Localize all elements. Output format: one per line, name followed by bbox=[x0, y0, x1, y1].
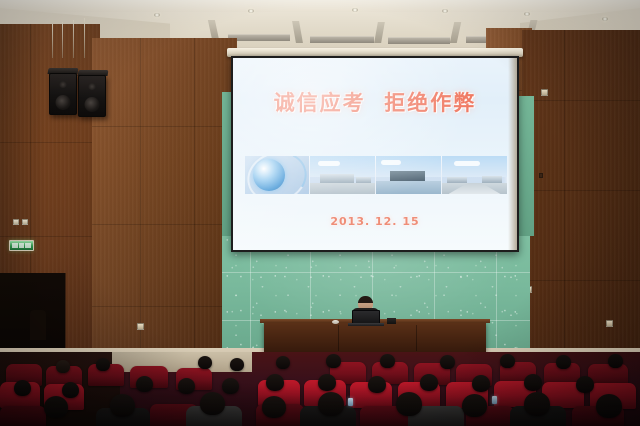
panel-seam bbox=[92, 306, 237, 307]
seated-student bbox=[136, 376, 153, 392]
speaker-cable bbox=[62, 22, 63, 58]
panel-seam bbox=[564, 30, 565, 356]
desk-cup bbox=[332, 320, 339, 324]
ceiling-downlight bbox=[248, 9, 254, 13]
seated-student bbox=[420, 374, 438, 391]
slide-image-strip bbox=[245, 156, 507, 194]
slide-title: 诚信应考 拒绝作弊 bbox=[233, 87, 517, 117]
podium-desk bbox=[264, 322, 486, 352]
auditorium-scene: 诚信应考 拒绝作弊 bbox=[0, 0, 640, 426]
seated-student bbox=[524, 392, 550, 416]
panel-seam bbox=[194, 38, 195, 356]
seated-student bbox=[318, 392, 344, 416]
ceiling-slat bbox=[292, 21, 303, 43]
seated-student bbox=[198, 356, 212, 369]
seated-student bbox=[326, 354, 341, 368]
seated-student bbox=[596, 394, 622, 418]
panel-seam bbox=[92, 126, 237, 127]
mobile-phone bbox=[492, 396, 497, 404]
seated-student bbox=[230, 358, 244, 371]
seated-student bbox=[500, 354, 515, 368]
wall-fitting bbox=[539, 173, 543, 178]
seated-student bbox=[178, 378, 195, 394]
desk-seam bbox=[416, 325, 417, 351]
panel-seam bbox=[0, 142, 100, 143]
seated-student bbox=[262, 396, 286, 418]
panel-seam bbox=[0, 236, 100, 237]
seated-student bbox=[200, 392, 225, 415]
photo-water bbox=[376, 181, 441, 194]
photo-cloud bbox=[318, 161, 340, 166]
panel-seam bbox=[92, 224, 237, 225]
globe-graphic bbox=[245, 156, 309, 194]
presenter-laptop bbox=[352, 310, 380, 324]
screen-edge-shadow bbox=[508, 58, 517, 250]
seated-student bbox=[222, 378, 239, 394]
wall-socket[interactable] bbox=[541, 89, 548, 96]
ceiling-vent bbox=[310, 36, 374, 43]
speaker-cable bbox=[52, 24, 53, 58]
seated-student bbox=[576, 376, 594, 393]
ceiling-downlight bbox=[154, 13, 160, 17]
auditorium-seat bbox=[0, 406, 46, 426]
seated-student bbox=[396, 392, 422, 416]
desk-item bbox=[387, 318, 396, 324]
wall-panel-left-inner bbox=[92, 38, 237, 356]
wood-grain-texture bbox=[92, 38, 237, 356]
exit-sign-glyphs bbox=[12, 243, 31, 248]
ceiling-vent bbox=[228, 34, 290, 41]
wall-panel-right bbox=[522, 30, 640, 356]
slide-date: 2013. 12. 15 bbox=[233, 215, 517, 228]
seated-student bbox=[276, 356, 290, 369]
wood-grain-texture bbox=[522, 30, 640, 356]
ceiling-front-band bbox=[0, 0, 640, 12]
wall-socket[interactable] bbox=[137, 323, 144, 330]
ceiling-downlight bbox=[524, 12, 530, 16]
wall-grid-line bbox=[222, 272, 530, 273]
wall-socket[interactable] bbox=[606, 320, 613, 327]
ceiling-vent bbox=[388, 37, 450, 44]
screen-frame: 诚信应考 拒绝作弊 bbox=[231, 56, 519, 252]
seated-student bbox=[524, 374, 542, 391]
ceiling-slat bbox=[374, 22, 385, 43]
ceiling-downlight bbox=[602, 17, 608, 21]
photo-cloud bbox=[381, 160, 401, 165]
campus-building-photo bbox=[309, 156, 375, 194]
seated-student bbox=[368, 376, 386, 393]
seated-student bbox=[608, 354, 623, 368]
ceiling-downlight bbox=[352, 8, 358, 12]
mobile-phone bbox=[348, 398, 353, 406]
photo-ground bbox=[310, 183, 375, 194]
desk-seam bbox=[338, 325, 339, 351]
seated-student bbox=[556, 355, 571, 369]
presentation-slide: 诚信应考 拒绝作弊 bbox=[233, 58, 517, 250]
seated-student bbox=[56, 360, 70, 373]
projection-screen: 诚信应考 拒绝作弊 bbox=[231, 48, 519, 253]
laptop-base bbox=[348, 323, 384, 326]
seated-student bbox=[318, 374, 336, 391]
audience-area bbox=[0, 352, 640, 426]
seated-student bbox=[14, 380, 31, 396]
ceiling-speaker-left bbox=[49, 73, 77, 115]
panel-seam bbox=[522, 280, 640, 281]
seated-student bbox=[44, 396, 68, 418]
speaker-cable bbox=[73, 20, 74, 58]
seated-student bbox=[62, 382, 79, 398]
photo-sky bbox=[442, 156, 507, 177]
doorway-chair bbox=[30, 310, 46, 340]
panel-seam bbox=[522, 100, 640, 101]
ceiling-slat bbox=[208, 20, 219, 40]
panel-seam bbox=[140, 38, 141, 356]
seated-student bbox=[472, 375, 490, 392]
speaker-cable bbox=[84, 18, 85, 58]
photo-cloud bbox=[454, 161, 480, 166]
seated-student bbox=[96, 358, 110, 371]
wall-light-switch[interactable] bbox=[13, 219, 19, 225]
waterfront-building-photo bbox=[375, 156, 441, 194]
wall-light-switch[interactable] bbox=[22, 219, 28, 225]
seated-student bbox=[266, 374, 284, 391]
emergency-exit-sign bbox=[9, 240, 34, 251]
ceiling-slat bbox=[450, 22, 461, 43]
seated-student bbox=[380, 354, 395, 368]
seated-student bbox=[462, 394, 487, 417]
ceiling-speaker-right bbox=[78, 75, 106, 117]
panel-seam bbox=[522, 190, 640, 191]
seated-student bbox=[110, 394, 135, 417]
campus-road-photo bbox=[441, 156, 507, 194]
seated-student bbox=[440, 355, 455, 369]
ceiling-downlight bbox=[442, 9, 448, 13]
